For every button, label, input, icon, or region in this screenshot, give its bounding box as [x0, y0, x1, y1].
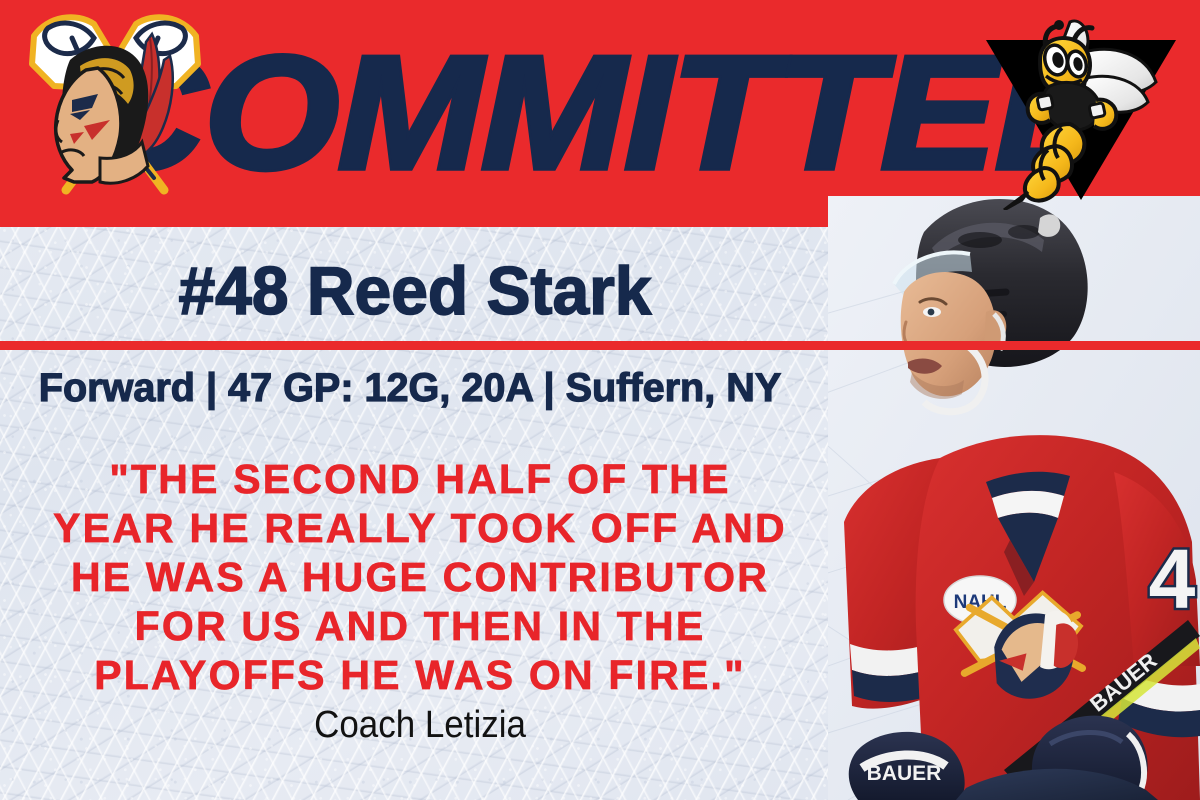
johnstown-tomahawks-braves-head-logo [14, 8, 214, 208]
svg-text:BAUER: BAUER [867, 762, 942, 785]
svg-text:4: 4 [1149, 532, 1196, 626]
quote-line: PLAYOFFS HE WAS ON FIRE." [20, 651, 820, 700]
player-photo: NAHL 4 [828, 196, 1200, 800]
coach-quote: "THE SECOND HALF OF THE YEAR HE REALLY T… [20, 455, 820, 700]
player-name: #48 Reed Stark [12, 257, 817, 325]
quote-line: YEAR HE REALLY TOOK OFF AND [20, 504, 820, 553]
quote-line: HE WAS A HUGE CONTRIBUTOR [20, 553, 820, 602]
red-divider-line [0, 341, 1200, 350]
player-stats-line: Forward | 47 GP: 12G, 20A | Suffern, NY [4, 368, 816, 408]
hornet-triangle-logo [978, 8, 1184, 210]
committed-announcement-graphic: NAHL 4 [0, 0, 1200, 800]
quote-line: "THE SECOND HALF OF THE [20, 455, 820, 504]
quote-attribution: Coach Letizia [52, 706, 788, 744]
quote-line: FOR US AND THEN IN THE [20, 602, 820, 651]
